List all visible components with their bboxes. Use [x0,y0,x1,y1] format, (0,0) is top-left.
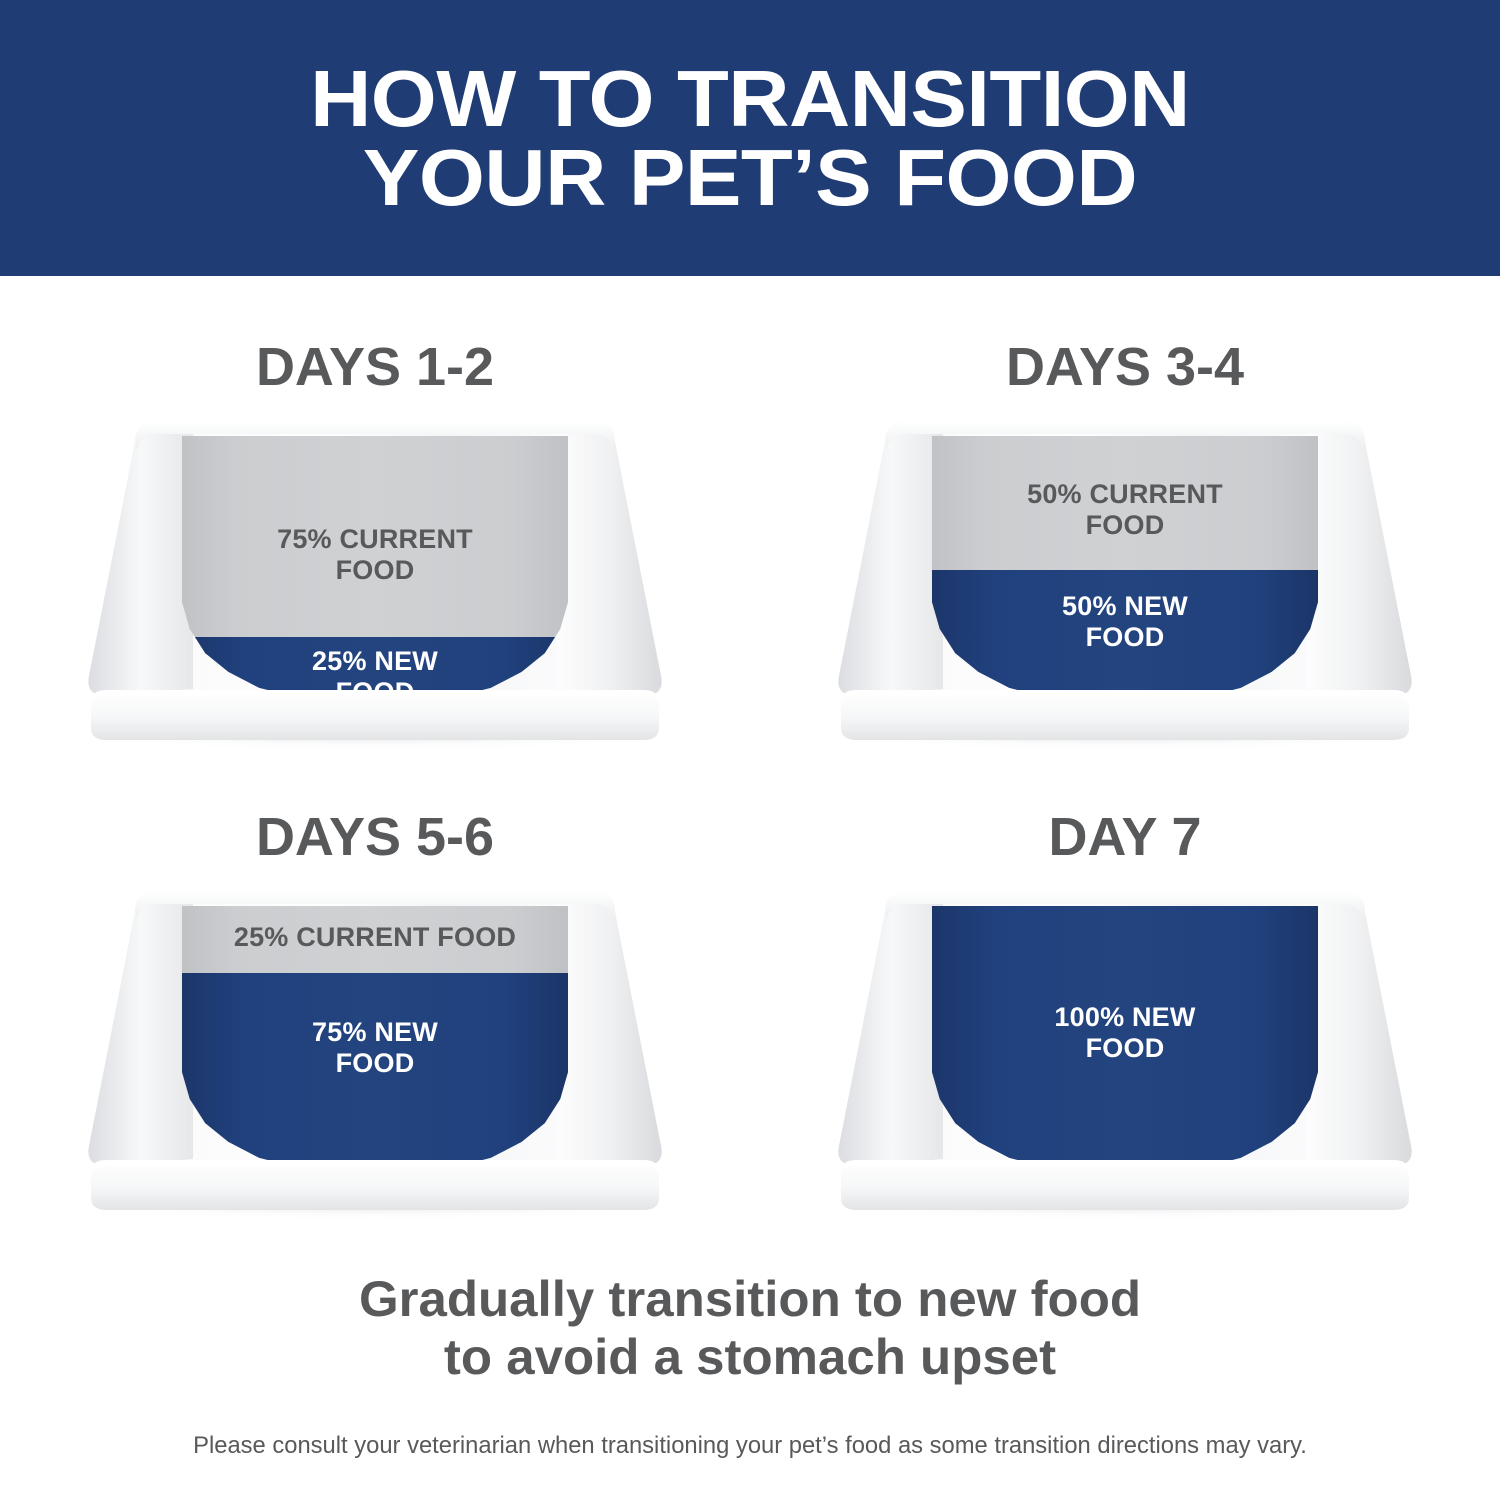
footer: Gradually transition to new food to avoi… [0,1270,1500,1461]
bowl-base-plinth [75,1158,675,1214]
bowl-food-cavity: 50% CURRENT FOOD 50% NEW FOOD [932,436,1318,704]
current-food-region: 25% CURRENT FOOD [182,906,568,973]
current-food-region: 75% CURRENT FOOD [182,436,568,637]
pet-food-bowl: 100% NEW FOOD [825,884,1425,1214]
new-food-label: 50% NEW FOOD [932,591,1318,653]
new-food-label: 100% NEW FOOD [932,1002,1318,1064]
header-banner: HOW TO TRANSITION YOUR PET’S FOOD [0,0,1500,276]
bowl-food-cavity: 25% CURRENT FOOD 75% NEW FOOD [182,906,568,1174]
transition-step-card: DAYS 1-2 [0,336,750,806]
step-day-label: DAYS 1-2 [0,336,750,398]
footer-disclaimer: Please consult your veterinarian when tr… [8,1432,1493,1461]
transition-step-card: DAYS 3-4 50% CURRENT FOOD 50% NEW FOOD [750,336,1500,806]
transition-step-card: DAYS 5-6 25% CURRENT FOOD 75% NEW FOOD [0,806,750,1276]
page-title: HOW TO TRANSITION YOUR PET’S FOOD [310,59,1190,217]
current-food-label: 50% CURRENT FOOD [932,479,1318,541]
bowl-base-plinth [825,688,1425,744]
footer-headline: Gradually transition to new food to avoi… [0,1270,1500,1386]
bowl-food-cavity: 75% CURRENT FOOD 25% NEW FOOD [182,436,568,704]
step-day-label: DAY 7 [750,806,1500,868]
step-day-label: DAYS 3-4 [750,336,1500,398]
new-food-region: 100% NEW FOOD [932,906,1318,1174]
pet-food-bowl: 50% CURRENT FOOD 50% NEW FOOD [825,414,1425,744]
new-food-label: 75% NEW FOOD [182,1017,568,1079]
current-food-region: 50% CURRENT FOOD [932,436,1318,570]
new-food-region: 75% NEW FOOD [182,973,568,1174]
pet-food-bowl: 75% CURRENT FOOD 25% NEW FOOD [75,414,675,744]
bowl-food-cavity: 100% NEW FOOD [932,906,1318,1174]
current-food-label: 25% CURRENT FOOD [182,922,568,953]
bowl-base-plinth [825,1158,1425,1214]
transition-step-card: DAY 7 100% NEW FOOD [750,806,1500,1276]
current-food-label: 75% CURRENT FOOD [182,524,568,586]
bowl-base-plinth [75,688,675,744]
pet-food-bowl: 25% CURRENT FOOD 75% NEW FOOD [75,884,675,1214]
transition-steps-grid: DAYS 1-2 [0,276,1500,1256]
step-day-label: DAYS 5-6 [0,806,750,868]
